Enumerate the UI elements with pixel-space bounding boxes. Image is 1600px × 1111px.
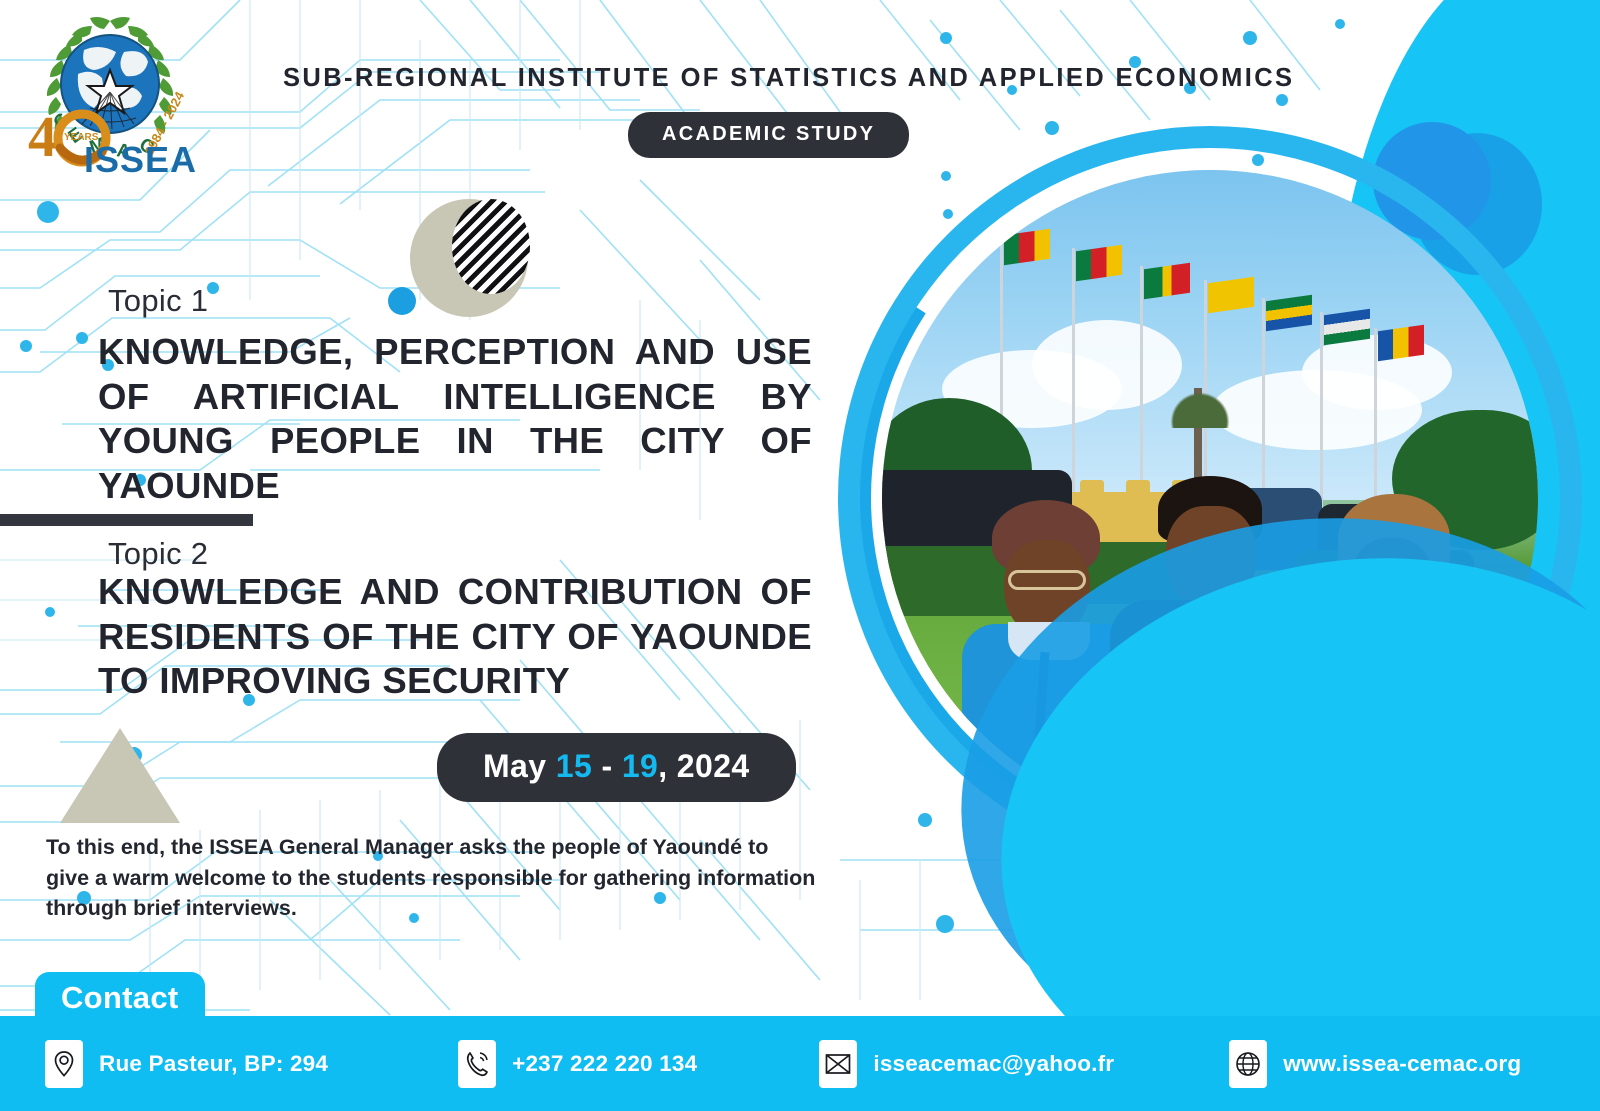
tan-decorative-triangle xyxy=(60,728,180,823)
contact-address-text: Rue Pasteur, BP: 294 xyxy=(99,1051,328,1077)
institution-title: SUB-REGIONAL INSTITUTE OF STATISTICS AND… xyxy=(283,64,1294,93)
date-year: , 2024 xyxy=(658,748,749,784)
globe-icon xyxy=(1229,1040,1267,1088)
contact-item-website[interactable]: www.issea-cemac.org xyxy=(1229,1040,1521,1088)
contact-email-text: isseacemac@yahoo.fr xyxy=(873,1051,1114,1077)
photo-palm-fronds xyxy=(1152,366,1248,428)
photo-glasses xyxy=(1008,570,1086,590)
svg-text:4: 4 xyxy=(28,104,57,169)
topic-2-label: Topic 2 xyxy=(108,536,208,572)
location-pin-icon xyxy=(45,1040,83,1088)
contact-phone-text: +237 222 220 134 xyxy=(512,1051,697,1077)
contact-item-phone[interactable]: +237 222 220 134 xyxy=(458,1040,697,1088)
blue-accent-dot xyxy=(388,287,416,315)
contact-item-address[interactable]: Rue Pasteur, BP: 294 xyxy=(45,1040,328,1088)
event-date-badge: May 15 - 19, 2024 xyxy=(437,733,796,802)
date-day-start: 15 xyxy=(556,748,592,784)
date-separator: - xyxy=(601,748,612,784)
poster-canvas: C E M A C 4 YEARS 1984 - 2024 ISSEA SUB-… xyxy=(0,0,1600,1111)
topic-1-heading: KNOWLEDGE, PERCEPTION AND USE OF ARTIFIC… xyxy=(98,330,812,508)
envelope-icon xyxy=(819,1040,857,1088)
academic-study-badge: ACADEMIC STUDY xyxy=(628,112,909,158)
svg-text:ISSEA: ISSEA xyxy=(84,139,197,180)
announcement-text: To this end, the ISSEA General Manager a… xyxy=(46,832,816,924)
date-month: May xyxy=(483,748,546,784)
contact-item-email[interactable]: isseacemac@yahoo.fr xyxy=(819,1040,1114,1088)
topic-2-heading: KNOWLEDGE AND CONTRIBUTION OF RESIDENTS … xyxy=(98,570,812,704)
phone-icon xyxy=(458,1040,496,1088)
photo-cloud xyxy=(1302,335,1452,410)
section-divider xyxy=(0,514,253,526)
topic-1-label: Topic 1 xyxy=(108,283,208,319)
contact-website-text: www.issea-cemac.org xyxy=(1283,1051,1521,1077)
date-day-end: 19 xyxy=(622,748,658,784)
contact-list: Rue Pasteur, BP: 294 +237 222 220 134 is… xyxy=(0,1016,1600,1111)
striped-decorative-circle xyxy=(452,199,530,294)
issea-cemac-logo: C E M A C 4 YEARS 1984 - 2024 ISSEA xyxy=(20,12,200,182)
